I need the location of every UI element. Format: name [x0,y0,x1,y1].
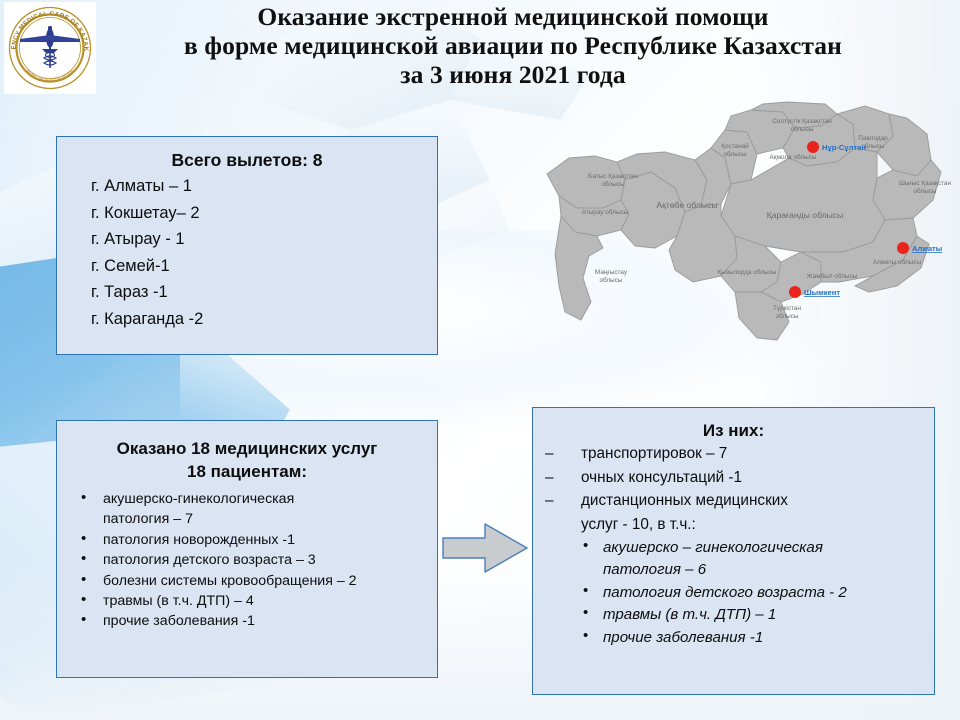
services-list: акушерско-гинекологическая патология – 7… [57,489,437,632]
svg-text:Батыс Қазақстан: Батыс Қазақстан [588,173,638,180]
city-dot-shymkent [789,286,801,298]
list-item: очных консультаций -1 [533,466,934,490]
city-label-almaty: Алматы [912,244,942,253]
svg-text:облысы: облысы [790,125,813,133]
list-item: г. Кокшетау– 2 [91,200,437,227]
kazakhstan-map: Батыс Қазақстан облысы Атырау облысы Маң… [525,96,955,361]
breakdown-list: транспортировок – 7 очных консультаций -… [533,442,934,536]
services-rendered-box: Оказано 18 медицинских услуг 18 пациента… [56,420,438,678]
list-item: патология детского возраста – 3 [57,550,437,570]
slide: EMERGENCY MEDICAL CARE OF KAZAKHSTAN ҚАЗ… [0,0,960,720]
right-arrow-icon [439,518,531,578]
list-item: транспортировок – 7 [533,442,934,466]
list-item: прочие заболевания -1 [57,611,437,631]
breakdown-sub-list: акушерско – гинекологическая патология –… [533,537,934,649]
city-dot-nur-sultan [807,141,819,153]
svg-text:облысы: облысы [723,150,746,158]
svg-text:Ақтөбе облысы: Ақтөбе облысы [656,200,717,210]
list-item: болезни системы кровообращения – 2 [57,571,437,591]
list-item: г. Семей-1 [91,253,437,280]
svg-text:облысы: облысы [775,312,798,320]
services-heading: Оказано 18 медицинских услуг 18 пациента… [67,437,427,483]
list-item: патология новорожденных -1 [57,530,437,550]
svg-text:Алматы облысы: Алматы облысы [873,258,922,266]
svg-text:Ақмола облысы: Ақмола облысы [770,153,817,161]
svg-text:Қарағанды облысы: Қарағанды облысы [767,210,844,220]
list-item-continuation: патология – 7 [57,509,437,529]
title-line-2: в форме медицинской авиации по Республик… [118,31,908,60]
list-item-continuation: патология – 6 [533,559,934,581]
breakdown-box: Из них: транспортировок – 7 очных консул… [532,407,935,695]
list-item: патология детского возраста - 2 [533,582,934,604]
list-item: травмы (в т.ч. ДТП) – 4 [57,591,437,611]
svg-text:Түркістан: Түркістан [773,304,801,312]
svg-text:Атырау облысы: Атырау облысы [582,208,629,216]
svg-text:облысы: облысы [601,180,624,188]
svg-text:Шығыс Қазақстан: Шығыс Қазақстан [899,180,951,187]
svg-text:Жамбыл облысы: Жамбыл облысы [807,272,858,280]
list-item: акушерско-гинекологическая [57,489,437,509]
city-label-nur-sultan: Нұр-Сұлтан [822,143,866,152]
title-line-3: за 3 июня 2021 года [118,60,908,89]
svg-text:Қостанай: Қостанай [721,142,749,150]
svg-text:Қызылорда облысы: Қызылорда облысы [718,268,777,276]
total-flights-box: Всего вылетов: 8 г. Алматы – 1 г. Кокшет… [56,136,438,355]
emergency-medical-care-logo-icon: EMERGENCY MEDICAL CARE OF KAZAKHSTAN ҚАЗ… [4,2,96,94]
svg-text:облысы: облысы [913,187,936,195]
list-item: г. Атырау - 1 [91,226,437,253]
title-line-1: Оказание экстренной медицинской помощи [118,2,908,31]
list-item: травмы (в т.ч. ДТП) – 1 [533,604,934,626]
list-item-continuation: услуг - 10, в т.ч.: [533,513,934,537]
list-item: г. Алматы – 1 [91,173,437,200]
list-item: прочие заболевания -1 [533,627,934,649]
total-flights-heading: Всего вылетов: 8 [57,150,437,171]
list-item: г. Караганда -2 [91,306,437,333]
svg-text:Солтүстік Қазақстан: Солтүстік Қазақстан [772,117,832,125]
list-item: дистанционных медицинских [533,489,934,513]
city-label-shymkent: Шымкент [804,288,840,297]
list-item: акушерско – гинекологическая [533,537,934,559]
svg-text:облысы: облысы [599,276,622,284]
svg-text:Маңғыстау: Маңғыстау [595,269,628,276]
city-dot-almaty [897,242,909,254]
services-heading-line-1: Оказано 18 медицинских услуг [67,437,427,460]
breakdown-heading: Из них: [533,421,934,441]
services-heading-line-2: 18 пациентам: [67,460,427,483]
slide-title: Оказание экстренной медицинской помощи в… [118,2,908,89]
list-item: г. Тараз -1 [91,279,437,306]
flights-city-list: г. Алматы – 1 г. Кокшетау– 2 г. Атырау -… [57,173,437,332]
svg-text:Павлодар: Павлодар [858,135,888,142]
